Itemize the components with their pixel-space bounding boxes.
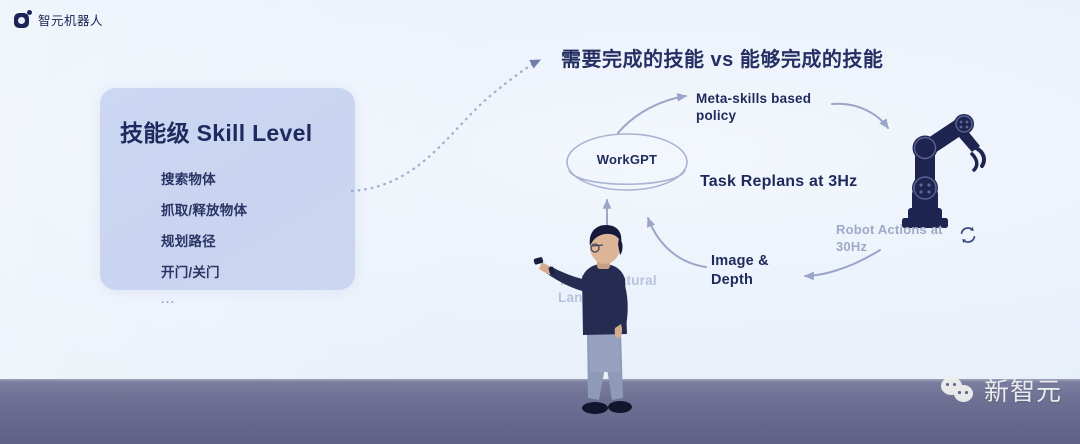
refresh-cycle-icon [957, 224, 979, 246]
page-title: 需要完成的技能 vs 能够完成的技能 [561, 43, 883, 72]
brand-logo: 智元机器人 [14, 10, 103, 29]
arrow-workgpt-to-meta [618, 96, 686, 133]
arrow-image-to-workgpt [648, 218, 706, 267]
watermark-text: 新智元 [984, 372, 1062, 408]
workgpt-label: WorkGPT [578, 152, 676, 169]
zhiyuan-logo-icon [14, 11, 31, 28]
brand-name: 智元机器人 [38, 10, 103, 29]
presenter-person-icon [533, 222, 653, 427]
image-depth-label: Image & Depth [711, 252, 801, 289]
dotted-connector-path [352, 60, 540, 191]
robot-actions-label: Robot Actions at 30Hz [836, 222, 956, 255]
arrow-meta-to-robot [832, 104, 888, 128]
robot-arm-icon [888, 104, 988, 236]
wechat-icon [941, 377, 975, 403]
meta-skills-label: Meta-skills based policy [696, 90, 816, 125]
watermark: 新智元 [941, 372, 1062, 408]
presentation-screenshot: 智元机器人 技能级 Skill Level 搜索物体 抓取/释放物体 规划路径 … [0, 0, 1080, 444]
task-replans-label: Task Replans at 3Hz [700, 172, 857, 192]
